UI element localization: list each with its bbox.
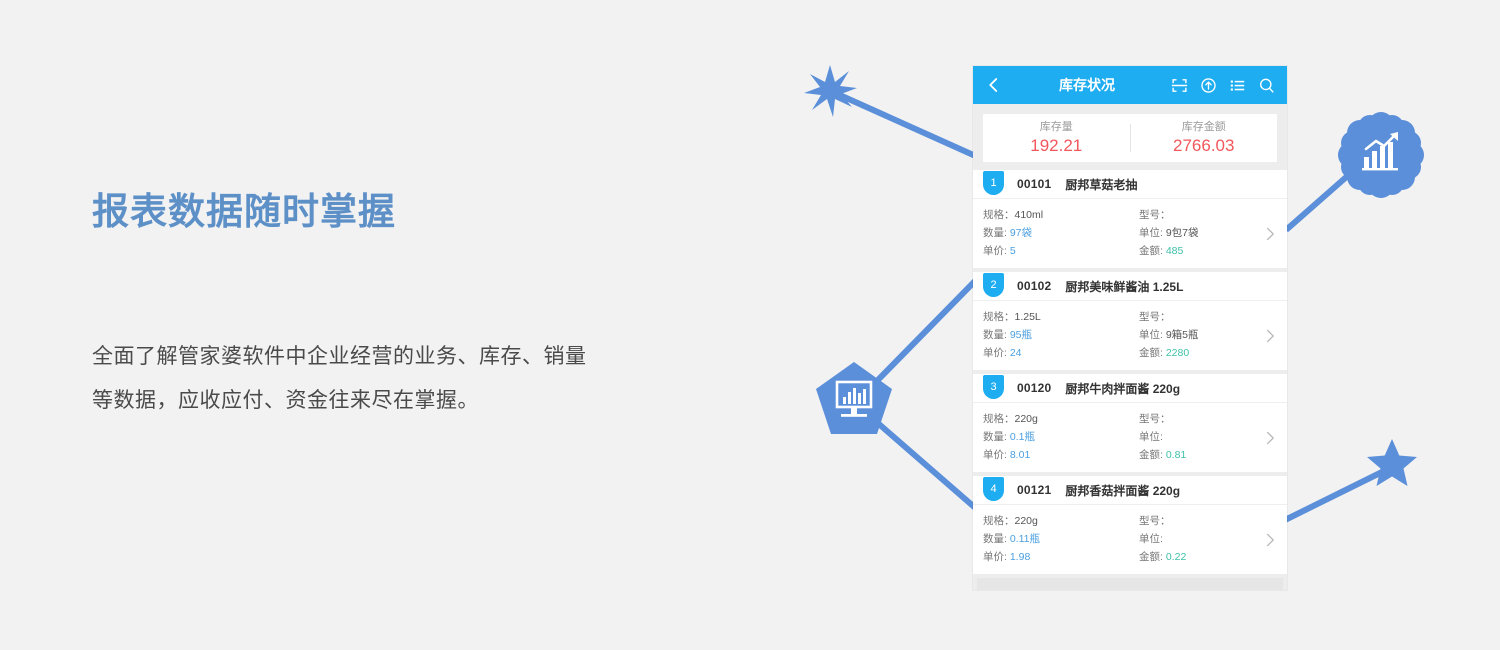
qty-label: 数量: [983, 227, 1007, 239]
price-row: 单价: 1.98 [983, 548, 1131, 566]
amount-label: 金额: [1139, 551, 1163, 563]
amount-row: 金额: 0.22 [1139, 548, 1287, 566]
spec-label: 规格： [983, 209, 1015, 221]
connector-line-pentagon-lower [872, 418, 980, 512]
phone-mockup: 库存状况 [973, 66, 1287, 590]
connector-line-star [1285, 472, 1382, 520]
list-item[interactable]: 1 00101 厨邦草菇老抽 规格：410ml 数量: 97袋 单价: 5 型号… [973, 170, 1287, 268]
description-text: 全面了解管家婆软件中企业经营的业务、库存、销量等数据，应收应付、资金往来尽在掌握… [92, 335, 592, 423]
qty-label: 数量: [983, 329, 1007, 341]
qty-value: 95瓶 [1010, 329, 1032, 341]
spec-label: 规格： [983, 413, 1015, 425]
unit-label: 单位: [1139, 227, 1163, 239]
unit-value: 9包7袋 [1166, 227, 1199, 239]
model-row: 型号： [1139, 410, 1287, 428]
list-item-body: 规格：410ml 数量: 97袋 单价: 5 型号： 单位: 9包7袋 金额: … [973, 199, 1287, 268]
connector-line-cloud [1286, 172, 1352, 230]
unit-label: 单位: [1139, 431, 1163, 443]
spec-row: 规格：410ml [983, 206, 1131, 224]
model-label: 型号： [1139, 311, 1171, 323]
spec-row: 规格：1.25L [983, 308, 1131, 326]
spec-value: 1.25L [1015, 311, 1041, 323]
spec-value: 410ml [1015, 209, 1044, 221]
summary-cell-stock-qty: 库存量 192.21 [983, 119, 1130, 157]
qty-value: 97袋 [1010, 227, 1032, 239]
list-item-header: 4 00121 厨邦香菇拌面酱 220g [973, 476, 1287, 505]
list-item-code: 00121 [1017, 483, 1051, 497]
spec-label: 规格： [983, 311, 1015, 323]
list-item-badge: 3 [983, 375, 1004, 399]
unit-label: 单位: [1139, 533, 1163, 545]
unit-value: 9箱5瓶 [1166, 329, 1199, 341]
price-value: 5 [1010, 245, 1016, 257]
search-icon[interactable] [1258, 77, 1275, 94]
unit-label: 单位: [1139, 329, 1163, 341]
model-row: 型号： [1139, 308, 1287, 326]
summary-value: 192.21 [983, 135, 1130, 157]
model-label: 型号： [1139, 209, 1171, 221]
list-item-code: 00102 [1017, 279, 1051, 293]
list-lines-icon[interactable] [1229, 77, 1246, 94]
marketing-copy: 报表数据随时掌握 全面了解管家婆软件中企业经营的业务、库存、销量等数据，应收应付… [92, 190, 632, 234]
amount-value: 485 [1166, 245, 1184, 257]
spec-value: 220g [1015, 413, 1038, 425]
price-row: 单价: 24 [983, 344, 1131, 362]
list-item-body: 规格：1.25L 数量: 95瓶 单价: 24 型号： 单位: 9箱5瓶 金额:… [973, 301, 1287, 370]
list-item-code: 00101 [1017, 177, 1051, 191]
chevron-left-icon[interactable] [985, 76, 1003, 94]
list-item-name: 厨邦牛肉拌面酱 220g [1065, 380, 1180, 397]
list-item-header: 3 00120 厨邦牛肉拌面酱 220g [973, 374, 1287, 403]
amount-row: 金额: 2280 [1139, 344, 1287, 362]
summary-cell-stock-amount: 库存金额 2766.03 [1131, 119, 1278, 157]
amount-row: 金额: 0.81 [1139, 446, 1287, 464]
summary-value: 2766.03 [1131, 135, 1278, 157]
star-icon [1367, 439, 1417, 486]
cloud-chart-icon [1338, 112, 1424, 198]
spec-label: 规格： [983, 515, 1015, 527]
scan-frame-icon[interactable] [1171, 77, 1188, 94]
price-row: 单价: 8.01 [983, 446, 1131, 464]
model-row: 型号： [1139, 206, 1287, 224]
qty-row: 数量: 97袋 [983, 224, 1131, 242]
spec-row: 规格：220g [983, 512, 1131, 530]
list-item-body: 规格：220g 数量: 0.1瓶 单价: 8.01 型号： 单位: 金额: 0.… [973, 403, 1287, 472]
pentagon-monitor-icon [816, 362, 892, 434]
price-value: 8.01 [1010, 449, 1030, 461]
topbar-actions [1171, 77, 1275, 94]
connector-line-pentagon-upper [872, 278, 978, 386]
summary-label: 库存量 [983, 119, 1130, 135]
price-row: 单价: 5 [983, 242, 1131, 260]
list-item[interactable]: 4 00121 厨邦香菇拌面酱 220g 规格：220g 数量: 0.11瓶 单… [973, 476, 1287, 574]
qty-row: 数量: 95瓶 [983, 326, 1131, 344]
list-item-header: 1 00101 厨邦草菇老抽 [973, 170, 1287, 199]
amount-label: 金额: [1139, 245, 1163, 257]
qty-row: 数量: 0.11瓶 [983, 530, 1131, 548]
list-item[interactable]: 3 00120 厨邦牛肉拌面酱 220g 规格：220g 数量: 0.1瓶 单价… [973, 374, 1287, 472]
summary-section: 库存量 192.21 库存金额 2766.03 [973, 104, 1287, 170]
model-row: 型号： [1139, 512, 1287, 530]
price-label: 单价: [983, 245, 1007, 257]
list-item-badge: 4 [983, 477, 1004, 501]
starburst-icon [804, 65, 857, 117]
amount-label: 金额: [1139, 449, 1163, 461]
list-item-body: 规格：220g 数量: 0.11瓶 单价: 1.98 型号： 单位: 金额: 0… [973, 505, 1287, 574]
list-item-name: 厨邦草菇老抽 [1065, 176, 1137, 193]
inventory-list: 1 00101 厨邦草菇老抽 规格：410ml 数量: 97袋 单价: 5 型号… [973, 170, 1287, 590]
price-value: 1.98 [1010, 551, 1030, 563]
chevron-right-icon[interactable] [1265, 430, 1275, 446]
qty-value: 0.1瓶 [1010, 431, 1035, 443]
upload-circle-icon[interactable] [1200, 77, 1217, 94]
spec-row: 规格：220g [983, 410, 1131, 428]
list-item-header: 2 00102 厨邦美味鲜酱油 1.25L [973, 272, 1287, 301]
amount-value: 2280 [1166, 347, 1189, 359]
amount-value: 0.81 [1166, 449, 1186, 461]
page-title: 报表数据随时掌握 [92, 190, 632, 234]
model-label: 型号： [1139, 413, 1171, 425]
list-item-badge: 1 [983, 171, 1004, 195]
chevron-right-icon[interactable] [1265, 226, 1275, 242]
amount-label: 金额: [1139, 347, 1163, 359]
qty-label: 数量: [983, 431, 1007, 443]
list-item-name: 厨邦美味鲜酱油 1.25L [1065, 278, 1183, 295]
model-label: 型号： [1139, 515, 1171, 527]
list-item-badge: 2 [983, 273, 1004, 297]
amount-value: 0.22 [1166, 551, 1186, 563]
spec-value: 220g [1015, 515, 1038, 527]
price-value: 24 [1010, 347, 1022, 359]
price-label: 单价: [983, 449, 1007, 461]
list-item-name: 厨邦香菇拌面酱 220g [1065, 482, 1180, 499]
connector-line-top [833, 92, 980, 158]
qty-value: 0.11瓶 [1010, 533, 1040, 545]
price-label: 单价: [983, 551, 1007, 563]
summary-label: 库存金额 [1131, 119, 1278, 135]
list-item[interactable]: 2 00102 厨邦美味鲜酱油 1.25L 规格：1.25L 数量: 95瓶 单… [973, 272, 1287, 370]
app-topbar: 库存状况 [973, 66, 1287, 104]
chevron-right-icon[interactable] [1265, 532, 1275, 548]
list-empty-area [977, 578, 1283, 590]
list-item-code: 00120 [1017, 381, 1051, 395]
qty-label: 数量: [983, 533, 1007, 545]
chevron-right-icon[interactable] [1265, 328, 1275, 344]
qty-row: 数量: 0.1瓶 [983, 428, 1131, 446]
amount-row: 金额: 485 [1139, 242, 1287, 260]
price-label: 单价: [983, 347, 1007, 359]
summary-card: 库存量 192.21 库存金额 2766.03 [983, 114, 1277, 162]
